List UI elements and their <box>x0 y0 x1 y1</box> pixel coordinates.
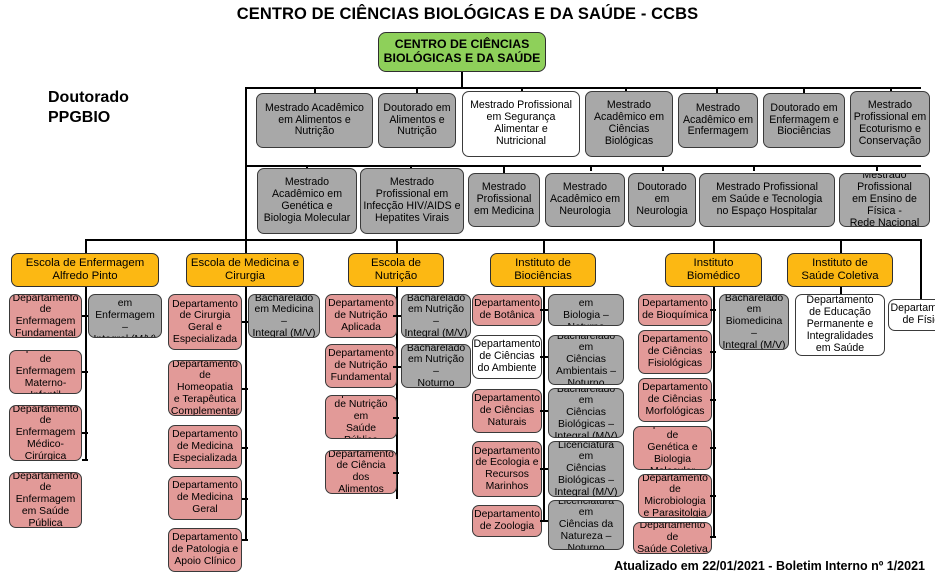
connector-unit-drop-biociencias <box>543 239 545 254</box>
node-root-ccbs[interactable]: CENTRO DE CIÊNCIAS BIOLÓGICAS E DA SAÚDE <box>378 32 546 72</box>
node-dept-enfermagem-medico-cirurgica[interactable]: Departamento de Enfermagem Médico- Cirúr… <box>9 405 82 461</box>
connector-unit-drop-saude-coletiva <box>840 239 842 254</box>
connector-left-spine <box>245 87 247 166</box>
connector-biomedico-stub-5 <box>710 495 716 497</box>
connector-biociencias-stub-5 <box>540 520 548 522</box>
node-dept-bioquimica[interactable]: Departamento de Bioquímica <box>638 294 712 326</box>
node-unit-escola-medicina[interactable]: Escola de Medicina e Cirurgia <box>186 253 304 287</box>
node-dept-medicina-especializada[interactable]: Departamento de Medicina Especializada <box>168 425 242 469</box>
connector-row2-drop-5 <box>662 165 664 171</box>
footer-update-note: Atualizado em 22/01/2021 - Boletim Inter… <box>614 559 925 573</box>
node-unit-instituto-saude-coletiva[interactable]: Instituto de Saúde Coletiva <box>787 253 893 287</box>
node-program-mestrado-prof-hiv-aids[interactable]: Mestrado Profissional em Infecção HIV/AI… <box>360 168 464 234</box>
node-course-bacharelado-ciencias-biologicas[interactable]: Bacharelado em Ciências Biológicas – Int… <box>548 388 624 438</box>
connector-row2-drop-4 <box>590 165 592 171</box>
connector-biociencias-stub-2 <box>540 356 548 358</box>
connector-nutricao-stub-2 <box>393 366 401 368</box>
connector-nutricao-stub-3 <box>393 417 399 419</box>
node-course-bacharelado-medicina[interactable]: Bacharelado em Medicina – Integral (M/V) <box>248 294 320 338</box>
page-title: CENTRO DE CIÊNCIAS BIOLÓGICAS E DA SAÚDE… <box>0 5 935 24</box>
side-label-doutorado-ppgbio: Doutorado PPGBIO <box>48 88 129 128</box>
node-dept-medicina-geral[interactable]: Departamento de Medicina Geral <box>168 476 242 520</box>
connector-units-bus <box>85 239 921 241</box>
connector-unit-drop-nutricao <box>396 239 398 254</box>
node-dept-saude-coletiva[interactable]: Departamento de Saúde Coletiva <box>633 522 712 554</box>
node-course-bacharelado-ciencias-ambientais[interactable]: Bacharelado em Ciências Ambientais – Not… <box>548 335 624 385</box>
node-program-doutorado-alimentos[interactable]: Doutorado em Alimentos e Nutrição <box>378 93 456 148</box>
node-dept-cirurgia-geral[interactable]: Departamento de Cirurgia Geral e Especia… <box>168 294 242 350</box>
connector-biociencias-stub-3 <box>540 410 548 412</box>
node-dept-patologia-apoio-clinico[interactable]: Departamento de Patologia e Apoio Clínic… <box>168 528 242 572</box>
connector-row1-bus <box>245 87 921 89</box>
node-dept-ciencias-fisiologicas[interactable]: Departamento de Ciências Fisiológicas <box>638 330 712 374</box>
node-course-licenciatura-biologia-noturno[interactable]: Licenciatura em Biologia – Noturno <box>548 294 624 326</box>
node-program-mestrado-academico-neurologia[interactable]: Mestrado Acadêmico em Neurologia <box>545 173 625 227</box>
connector-unit-drop-fisica <box>920 239 922 299</box>
node-unit-escola-nutricao[interactable]: Escola de Nutrição <box>348 253 444 287</box>
node-dept-zoologia[interactable]: Departamento de Zoologia <box>472 505 542 537</box>
node-program-doutorado-neurologia[interactable]: Doutorado em Neurologia <box>628 173 696 227</box>
connector-nutricao-stub-1 <box>393 315 401 317</box>
node-program-mestrado-prof-medicina[interactable]: Mestrado Profissional em Medicina <box>468 173 540 227</box>
node-program-mestrado-prof-saude-tecnologia[interactable]: Mestrado Profissional em Saúde e Tecnolo… <box>699 173 835 227</box>
connector-biociencias-stub-4 <box>540 468 548 470</box>
node-program-doutorado-enfermagem-biociencias[interactable]: Doutorado em Enfermagem e Biociências <box>763 93 845 148</box>
node-dept-nutricao-aplicada[interactable]: Departamento de Nutrição Aplicada <box>325 294 397 338</box>
node-program-mestrado-prof-ensino-fisica[interactable]: Mestrado Profissional em Ensino de Físic… <box>839 173 930 227</box>
connector-enfermagem-stub-2 <box>82 371 88 373</box>
node-unit-escola-enfermagem[interactable]: Escola de Enfermagem Alfredo Pinto <box>11 253 159 287</box>
connector-biomedico-stub-4 <box>710 447 716 449</box>
connector-biociencias-spine <box>543 287 545 522</box>
node-dept-enfermagem-fundamental[interactable]: Departamento de Enfermagem Fundamental <box>9 294 82 338</box>
connector-row2-drop-7 <box>876 165 878 171</box>
connector-biomedico-stub-6 <box>710 536 716 538</box>
connector-biociencias-stub-1 <box>540 309 548 311</box>
node-course-licenciatura-ciencias-natureza[interactable]: Licenciatura em Ciências da Natureza – N… <box>548 500 624 550</box>
connector-left-spine-lower <box>245 165 247 240</box>
connector-row2-bus <box>245 165 921 167</box>
node-program-mestrado-prof-seguranca-alimentar[interactable]: Mestrado Profissional em Segurança Alime… <box>462 91 580 157</box>
node-dept-homeopatia[interactable]: Departamento de Homeopatia e Terapêutica… <box>168 360 242 416</box>
connector-unit-drop-medicina <box>245 239 247 254</box>
connector-medicina-stub-3 <box>242 447 248 449</box>
connector-medicina-stub-5 <box>242 539 248 541</box>
connector-unit-drop-biomedico <box>713 239 715 254</box>
connector-biomedico-stub-3 <box>710 399 716 401</box>
node-program-mestrado-academico-enfermagem[interactable]: Mestrado Acadêmico em Enfermagem <box>678 93 758 148</box>
node-course-bacharelado-nutricao-integral[interactable]: Bacharelado em Nutrição – Integral (M/V) <box>401 294 471 338</box>
connector-enfermagem-stub-4 <box>82 459 88 461</box>
node-dept-enfermagem-saude-publica[interactable]: Departamento de Enfermagem em Saúde Públ… <box>9 472 82 528</box>
node-course-bacharelado-biomedicina[interactable]: Bacharelado em Biomedicina – Integral (M… <box>719 294 789 350</box>
connector-medicina-stub-2 <box>242 388 248 390</box>
connector-medicina-stub-4 <box>242 498 248 500</box>
connector-biomedico-stub-1 <box>710 309 716 311</box>
node-program-mestrado-prof-ecoturismo[interactable]: Mestrado Profissional em Ecoturismo e Co… <box>850 91 930 157</box>
node-unit-instituto-biociencias[interactable]: Instituto de Biociências <box>490 253 596 287</box>
node-dept-ciencias-morfologicas[interactable]: Departamento de Ciências Morfológicas <box>638 378 712 422</box>
connector-enfermagem-spine <box>85 287 87 460</box>
node-dept-ciencias-naturais[interactable]: Departamento de Ciências Naturais <box>472 389 542 433</box>
node-dept-enfermagem-materno-infantil[interactable]: Departamento de Enfermagem Materno-Infan… <box>9 350 82 394</box>
node-course-bacharelado-enfermagem[interactable]: Bacharelado em Enfermagem – Integral (M/… <box>88 294 162 338</box>
node-unit-instituto-biomedico[interactable]: Instituto Biomédico <box>665 253 762 287</box>
connector-enfermagem-stub-3 <box>82 432 88 434</box>
connector-row2-drop-6 <box>753 165 755 171</box>
organogram-canvas: CENTRO DE CIÊNCIAS BIOLÓGICAS E DA SAÚDE… <box>0 0 935 579</box>
node-program-mestrado-academico-genetica[interactable]: Mestrado Acadêmico em Genética e Biologi… <box>257 168 357 234</box>
node-dept-genetica-biologia-molecular[interactable]: Departamento de Genética e Biologia Mole… <box>633 426 712 470</box>
node-program-mestrado-academico-alimentos[interactable]: Mestrado Acadêmico em Alimentos e Nutriç… <box>256 93 373 148</box>
connector-nutricao-stub-4 <box>393 472 399 474</box>
node-dept-ecologia-recursos-marinhos[interactable]: Departamento de Ecologia e Recursos Mari… <box>472 441 542 497</box>
node-program-mestrado-academico-ciencias-biologicas[interactable]: Mestrado Acadêmico em Ciências Biológica… <box>585 91 673 157</box>
connector-biomedico-stub-2 <box>710 351 716 353</box>
node-dept-ciencia-alimentos[interactable]: Departamento de Ciência dos Alimentos <box>325 450 397 494</box>
node-dept-botanica[interactable]: Departamento de Botânica <box>472 294 542 326</box>
connector-row2-drop-3 <box>503 165 505 173</box>
node-dept-fisica[interactable]: Departamento de Física <box>888 299 935 331</box>
connector-biomedico-spine <box>713 287 715 537</box>
connector-unit-drop-enfermagem <box>85 239 87 254</box>
node-dept-nutricao-fundamental[interactable]: Departamento de Nutrição Fundamental <box>325 344 397 388</box>
node-dept-microbiologia-parasitologia[interactable]: Departamento de Microbiologia e Parasito… <box>638 474 712 518</box>
node-dept-educacao-permanente[interactable]: Departamento de Educação Permanente e In… <box>795 294 885 356</box>
connector-root-stem <box>461 72 463 88</box>
node-dept-ciencias-ambiente[interactable]: Departamento de Ciências do Ambiente <box>472 335 542 379</box>
node-dept-nutricao-saude-publica[interactable]: Departamento de Nutrição em Saúde Públic… <box>325 395 397 439</box>
node-course-bacharelado-nutricao-noturno[interactable]: Bacharelado em Nutrição – Noturno <box>401 344 471 388</box>
connector-medicina-spine <box>245 287 247 540</box>
node-course-licenciatura-ciencias-biologicas[interactable]: Licenciatura em Ciências Biológicas – In… <box>548 441 624 497</box>
